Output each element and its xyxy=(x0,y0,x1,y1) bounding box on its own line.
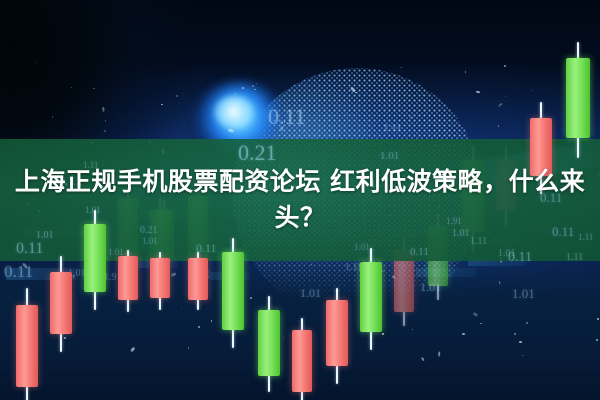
candle-body xyxy=(566,58,590,138)
candle-body xyxy=(118,256,138,300)
page-title: 上海正规手机股票配资论坛 红利低波策略，什么来头？ xyxy=(0,139,600,261)
candle-body xyxy=(360,262,382,332)
candle-body xyxy=(188,258,208,300)
candle-body xyxy=(222,252,244,330)
candle-body xyxy=(50,272,72,334)
candle-body xyxy=(150,258,170,298)
candle-body xyxy=(258,310,280,376)
candle-body xyxy=(292,330,312,392)
candle-body xyxy=(326,300,348,366)
candle-body xyxy=(16,305,38,387)
promo-banner: 0.110.211.111.010.111.111.011.010.110.11… xyxy=(0,0,600,400)
